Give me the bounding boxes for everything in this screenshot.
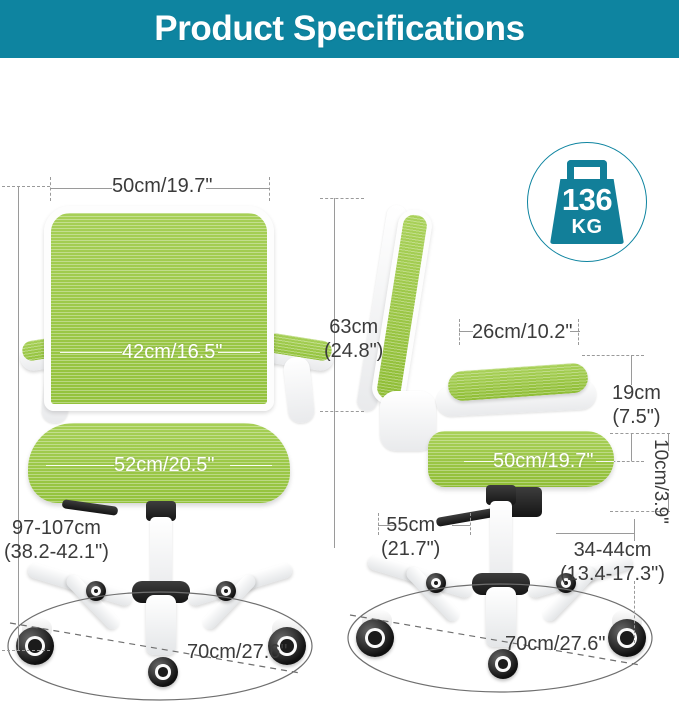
side-seat-thickness-label: 10cm/3.9": [650, 439, 671, 524]
side-seat-height-line2: (13.4-17.3"): [560, 562, 665, 586]
front-seat-width-label: 52cm/20.5": [114, 454, 215, 476]
front-height-line: [18, 186, 19, 651]
weight-unit: KG: [550, 217, 624, 237]
side-gas-cylinder: [490, 501, 512, 583]
front-backrest-inner-width-label: 42cm/16.5": [122, 341, 223, 363]
front-width-line-right: [206, 188, 269, 189]
side-seat-height-line-top: [556, 533, 634, 534]
side-armrest-height-label: 19cm (7.5"): [612, 381, 661, 429]
front-inner-width-line-right: [218, 352, 260, 353]
page-title: Product Specifications: [154, 10, 524, 48]
weight-handle-icon: [567, 160, 607, 180]
side-depth-tick-left: [378, 513, 379, 535]
side-armrest-height-line2: (7.5"): [612, 405, 661, 429]
side-seat-width-line-left: [464, 461, 494, 462]
front-overall-height-line1: 97-107cm: [4, 516, 109, 540]
side-seat-width-label: 50cm/19.7": [493, 450, 594, 472]
front-backrest: [44, 206, 274, 411]
front-overall-height-label: 97-107cm (38.2-42.1"): [4, 516, 109, 564]
weight-value: 136: [550, 184, 624, 215]
header-banner: Product Specifications: [0, 0, 679, 58]
front-width-tick-right: [269, 177, 270, 201]
side-armrest-tick-right: [578, 319, 579, 345]
front-overall-height-line2: (38.2-42.1"): [4, 540, 109, 564]
weight-icon: 136 KG: [550, 160, 624, 244]
side-depth-tick-right: [470, 513, 471, 535]
side-backrest-height-line2: (24.8"): [324, 339, 383, 363]
front-width-tick-left: [50, 177, 51, 201]
side-seat-width-line-right: [596, 461, 614, 462]
side-seat-depth-label: 55cm (21.7"): [381, 513, 440, 561]
side-tilt-mechanism: [380, 391, 436, 451]
side-depth-line-right: [452, 525, 470, 526]
side-backrest-tick-mid: [320, 411, 364, 412]
side-seat-thickness-tick-top: [610, 433, 670, 434]
spec-diagram: 136 KG: [0, 61, 679, 656]
side-armrest-tick-left: [459, 319, 460, 345]
side-backrest-height-line: [334, 198, 335, 548]
side-armrest-length-label: 26cm/10.2": [472, 321, 573, 344]
front-backrest-width-label: 50cm/19.7": [112, 175, 213, 198]
side-armrest-height-tick-top: [582, 355, 644, 356]
weight-capacity-badge: 136 KG: [527, 142, 647, 262]
side-seat-depth-line1: 55cm: [381, 513, 440, 537]
side-armrest-line-left: [459, 331, 473, 332]
front-height-tick-bottom: [2, 650, 50, 651]
side-backrest-height-line1: 63cm: [324, 315, 383, 339]
front-base-diameter-label: 70cm/27.6": [187, 641, 288, 664]
side-seat-height-line1: 34-44cm: [560, 538, 665, 562]
side-armrest-height-line-lower: [631, 433, 632, 461]
side-backrest-height-label: 63cm (24.8"): [324, 315, 383, 363]
side-seat-depth-line2: (21.7"): [381, 537, 440, 561]
side-armrest-height-line1: 19cm: [612, 381, 661, 405]
front-width-line-left: [50, 188, 112, 189]
front-height-tick-top: [2, 186, 50, 187]
side-seat-height-label: 34-44cm (13.4-17.3"): [560, 538, 665, 586]
side-seat-height-line-bottom: [634, 581, 635, 643]
front-seat-width-line-right: [230, 465, 272, 466]
front-seat-width-line-left: [46, 465, 114, 466]
front-inner-width-line-left: [60, 352, 122, 353]
side-backrest-tick-top: [320, 198, 364, 199]
side-base-diameter-label: 70cm/27.6": [505, 633, 606, 656]
